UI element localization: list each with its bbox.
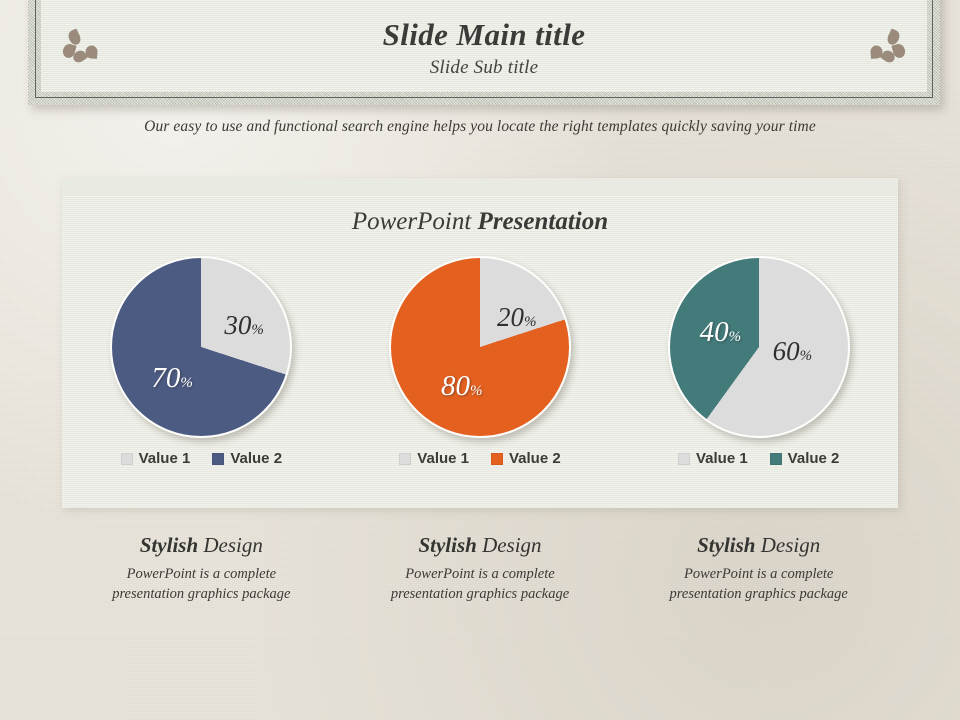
charts-row: 30% 70% Value 1 Value 2 <box>62 254 898 494</box>
panel-title: PowerPoint Presentation <box>62 208 898 236</box>
caption-3-line2: presentation graphics package <box>619 585 898 605</box>
legend-label-value1: Value 1 <box>139 450 191 467</box>
caption-2-heading: Stylish Design <box>341 533 620 558</box>
content-panel: PowerPoint Presentation 30% 70% <box>62 178 898 508</box>
caption-3-line1: PowerPoint is a complete <box>619 565 898 585</box>
pie-chart-2-slices <box>389 256 571 438</box>
pie-chart-3-label-value2: 40% <box>700 318 742 347</box>
caption-2-line1: PowerPoint is a complete <box>341 565 620 585</box>
caption-1-line2: presentation graphics package <box>62 585 341 605</box>
page-title: Slide Main title <box>41 18 927 53</box>
decorative-stripe-bar <box>62 178 898 195</box>
caption-1-line1: PowerPoint is a complete <box>62 565 341 585</box>
pie-chart-3: 60% 40% Value 1 Value 2 <box>619 254 898 494</box>
pie-chart-1-label-value1: 30% <box>224 312 264 339</box>
pie-chart-3-legend: Value 1 Value 2 <box>619 450 898 467</box>
panel-title-regular: PowerPoint <box>352 208 478 235</box>
legend-item-value1[interactable]: Value 1 <box>121 450 191 467</box>
pie-chart-1-graphic: 30% 70% <box>110 256 292 438</box>
title-block: Slide Main title Slide Sub title <box>41 18 927 79</box>
legend-label-value2: Value 2 <box>509 450 561 467</box>
legend-item-value2[interactable]: Value 2 <box>212 450 282 467</box>
legend-item-value1[interactable]: Value 1 <box>399 450 469 467</box>
caption-1-body: PowerPoint is a complete presentation gr… <box>62 565 341 604</box>
caption-2: Stylish Design PowerPoint is a complete … <box>341 533 620 643</box>
header-inner-panel: Slide Main title Slide Sub title <box>41 0 927 92</box>
caption-2-body: PowerPoint is a complete presentation gr… <box>341 565 620 604</box>
page-subtitle: Slide Sub title <box>41 57 927 79</box>
legend-swatch-value1 <box>121 453 133 465</box>
tagline-text: Our easy to use and functional search en… <box>0 118 960 136</box>
pie-chart-3-slices <box>668 256 850 438</box>
pie-chart-2-legend: Value 1 Value 2 <box>341 450 620 467</box>
legend-swatch-value1 <box>399 453 411 465</box>
legend-swatch-value2 <box>770 453 782 465</box>
pie-chart-1-label-value2: 70% <box>151 364 193 393</box>
pie-chart-1: 30% 70% Value 1 Value 2 <box>62 254 341 494</box>
caption-3-body: PowerPoint is a complete presentation gr… <box>619 565 898 604</box>
panel-title-strong: Presentation <box>478 208 609 235</box>
header-frame: Slide Main title Slide Sub title <box>28 0 940 105</box>
legend-label-value1: Value 1 <box>417 450 469 467</box>
legend-item-value2[interactable]: Value 2 <box>491 450 561 467</box>
slide-canvas: Slide Main title Slide Sub title Our eas… <box>0 0 960 720</box>
caption-1-heading: Stylish Design <box>62 533 341 558</box>
pie-chart-2-label-value1: 20% <box>497 304 537 331</box>
caption-3-heading: Stylish Design <box>619 533 898 558</box>
legend-label-value1: Value 1 <box>696 450 748 467</box>
legend-swatch-value2 <box>212 453 224 465</box>
legend-swatch-value1 <box>678 453 690 465</box>
pie-chart-2-graphic: 20% 80% <box>389 256 571 438</box>
pie-chart-3-graphic: 60% 40% <box>668 256 850 438</box>
legend-label-value2: Value 2 <box>230 450 282 467</box>
legend-item-value1[interactable]: Value 1 <box>678 450 748 467</box>
caption-1: Stylish Design PowerPoint is a complete … <box>62 533 341 643</box>
pie-chart-2: 20% 80% Value 1 Value 2 <box>341 254 620 494</box>
pie-chart-1-slices <box>110 256 292 438</box>
legend-label-value2: Value 2 <box>788 450 840 467</box>
pie-chart-1-legend: Value 1 Value 2 <box>62 450 341 467</box>
captions-row: Stylish Design PowerPoint is a complete … <box>62 533 898 643</box>
pie-chart-2-label-value2: 80% <box>441 372 483 401</box>
legend-swatch-value2 <box>491 453 503 465</box>
pie-chart-3-label-value1: 60% <box>773 338 813 365</box>
legend-item-value2[interactable]: Value 2 <box>770 450 840 467</box>
caption-3: Stylish Design PowerPoint is a complete … <box>619 533 898 643</box>
caption-2-line2: presentation graphics package <box>341 585 620 605</box>
